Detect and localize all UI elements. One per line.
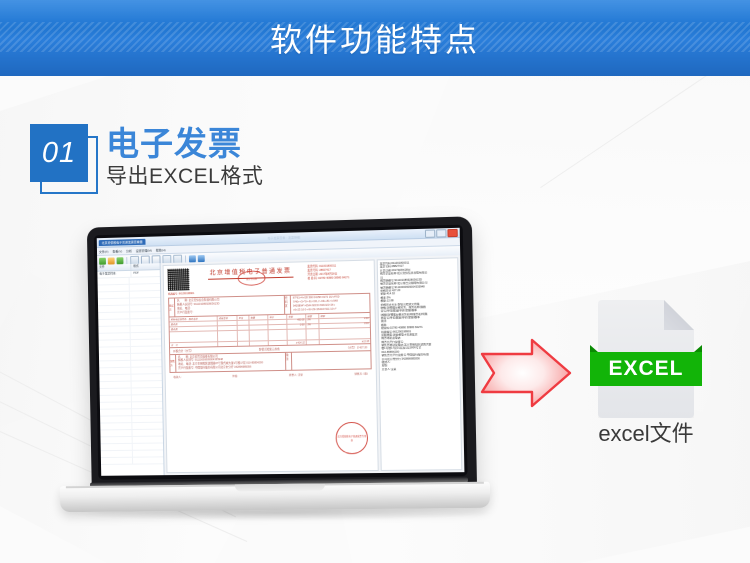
field-row: 开票人:汪荣 <box>382 366 457 371</box>
invoice-check-code: 校 验 码: 02780 40880 38980 84271 <box>307 275 369 280</box>
column-header-format: 格式 <box>131 264 139 270</box>
menu-item-view[interactable]: 查看(V) <box>112 249 122 253</box>
qr-code-icon <box>168 268 190 290</box>
seller-bank: 开户行及账号: 中国银行股份有限公司北京市分行 342896985056 <box>178 365 283 371</box>
workspace: 文件 格式 电子发票样本. PDF <box>97 255 464 476</box>
laptop-base-notch <box>235 483 325 491</box>
invoice-line-items: 货物或应税劳务、服务名称 规格型号 单位 数量 单价 金额 税率 税额 <box>168 312 371 347</box>
th-amount: 金额 <box>287 314 306 318</box>
excel-file-icon: EXCEL <box>598 300 694 418</box>
td-spec <box>218 320 238 324</box>
file-list-empty-row <box>101 457 164 465</box>
page-header-banner: 软件功能特点 <box>0 0 750 76</box>
document-pane: 机器编号: 661290198901 北京增值税电子普通发票 发票专用章 发票代… <box>161 255 465 475</box>
feature-badge-number: 01 <box>30 124 88 182</box>
payee: 收款人: <box>173 375 181 379</box>
th-spec: 规格型号 <box>218 315 238 319</box>
invoice-viewer-window: 北京增值税电子普通发票查看器 电子发票查看 - 发票明细 文件(F) 查看(V)… <box>97 228 465 476</box>
invoice-preview[interactable]: 机器编号: 661290198901 北京增值税电子普通发票 发票专用章 发票代… <box>163 259 379 473</box>
maximize-button[interactable] <box>436 229 446 237</box>
window-title: 北京增值税电子普通发票查看器 <box>99 238 146 245</box>
invoice-center-stamp: 发票专用章 <box>238 270 266 286</box>
menu-item-analyze[interactable]: 分析 <box>126 249 132 253</box>
parsed-fields-pane[interactable]: 发票代码:011001800011 发票号码:28827417 开票日期:201… <box>377 257 463 471</box>
td-price <box>268 324 287 328</box>
menu-item-file[interactable]: 文件(F) <box>99 249 109 253</box>
reviewer: 复核: <box>232 374 238 378</box>
total-digits: （小写）￥427.20 <box>346 345 367 349</box>
td-unit <box>238 325 250 329</box>
menu-item-help[interactable]: 帮助(H) <box>156 248 166 252</box>
feature-title: 电子发票 <box>106 117 242 165</box>
minimize-button[interactable] <box>425 229 435 237</box>
total-words: 肆佰贰拾柒元叁角 <box>259 347 280 351</box>
feature-subtitle: 导出EXCEL格式 <box>106 160 263 190</box>
laptop-screen: 北京增值税电子普通发票查看器 电子发票查看 - 发票明细 文件(F) 查看(V)… <box>97 228 465 476</box>
invoice-meta: 发票代码: 011001800011 发票号码: 28827417 开票日期: … <box>307 264 370 281</box>
password-line: +6+23 16 0-+9/>29<26410<911 10>/* <box>293 307 367 313</box>
invoice-title-block: 北京增值税电子普通发票 发票专用章 <box>198 265 304 280</box>
laptop-bezel: 北京增值税电子普通发票查看器 电子发票查看 - 发票明细 文件(F) 查看(V)… <box>94 225 468 480</box>
laptop-lid: 北京增值税电子普通发票查看器 电子发票查看 - 发票明细 文件(F) 查看(V)… <box>87 216 477 491</box>
total-label: 价税合计（大写） <box>173 348 193 352</box>
td-qty <box>249 320 268 324</box>
file-format-cell: PDF <box>131 271 139 277</box>
seller-details: 名 称: 北京星巴克咖啡有限公司 纳税人识别号: 911100006090043… <box>176 352 285 372</box>
td-amount: 0.00 <box>287 324 306 328</box>
td-rate: 3% <box>306 319 319 323</box>
td-qty <box>250 325 269 329</box>
invoice-seal-stamp: 北京增值税电子普通发票专用章 <box>335 422 368 455</box>
file-list-pane[interactable]: 文件 格式 电子发票样本. PDF <box>97 263 164 476</box>
drawer: 开票人: 汪荣 <box>289 373 303 377</box>
excel-badge-label: EXCEL <box>608 357 683 381</box>
invoice-header: 机器编号: 661290198901 北京增值税电子普通发票 发票专用章 发票代… <box>168 264 371 296</box>
window-controls[interactable] <box>425 228 458 237</box>
td-amount: 400.00 <box>287 319 306 323</box>
th-qty: 数量 <box>249 315 268 319</box>
feature-number-badge: 01 <box>30 124 90 186</box>
export-arrow <box>480 338 572 408</box>
td-rate: 3% <box>306 324 319 328</box>
th-rate: 税率 <box>306 314 319 318</box>
laptop-base <box>60 482 490 513</box>
banner-title: 软件功能特点 <box>0 0 750 76</box>
menu-item-settings[interactable]: 设置管理(M) <box>136 248 152 252</box>
page-fold-icon <box>664 300 694 330</box>
td-price <box>268 319 287 323</box>
td-unit <box>238 320 250 324</box>
column-header-file: 文件 <box>97 264 131 271</box>
buyer-details: 名 称: 北京天恒信息科技有限公司 纳税人识别号: 91110108592803… <box>175 296 284 316</box>
th-unit: 单位 <box>237 315 249 319</box>
sum-amount: ￥414.32 <box>288 340 307 344</box>
password-area: 87*61<4+/28 390 04158</0/72 16/+4*00 7/4… <box>291 294 370 313</box>
laptop-mockup: 北京增值税电子普通发票查看器 电子发票查看 - 发票明细 文件(F) 查看(V)… <box>60 222 490 522</box>
td-spec <box>218 325 238 329</box>
th-price: 单价 <box>268 314 287 318</box>
file-name-cell: 电子发票样本. <box>97 271 131 278</box>
excel-badge: EXCEL <box>590 352 702 386</box>
remark-area <box>292 351 371 370</box>
invoice-machine-number: 机器编号: 661290198901 <box>168 291 194 296</box>
seller-seal-label: 销售方: (章) <box>354 372 367 376</box>
close-button[interactable] <box>447 228 457 236</box>
excel-caption: excel文件 <box>570 416 722 448</box>
